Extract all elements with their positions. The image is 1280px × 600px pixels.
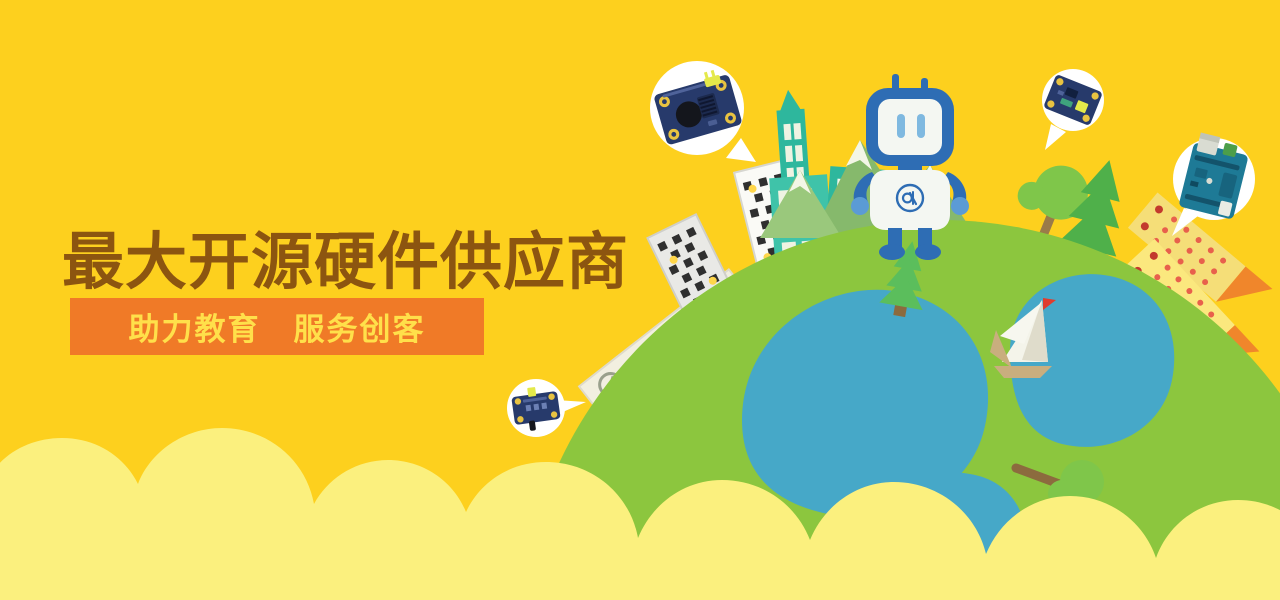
page-title: 最大开源硬件供应商: [62, 228, 629, 298]
promo-banner: 最大开源硬件供应商 助力教育 服务创客: [0, 0, 1280, 600]
robot-eye-left: [897, 114, 905, 138]
tagline-text: 助力教育 服务创客: [70, 298, 484, 355]
tagline-badge: 助力教育 服务创客: [70, 298, 484, 355]
robot-eye-right: [917, 114, 925, 138]
